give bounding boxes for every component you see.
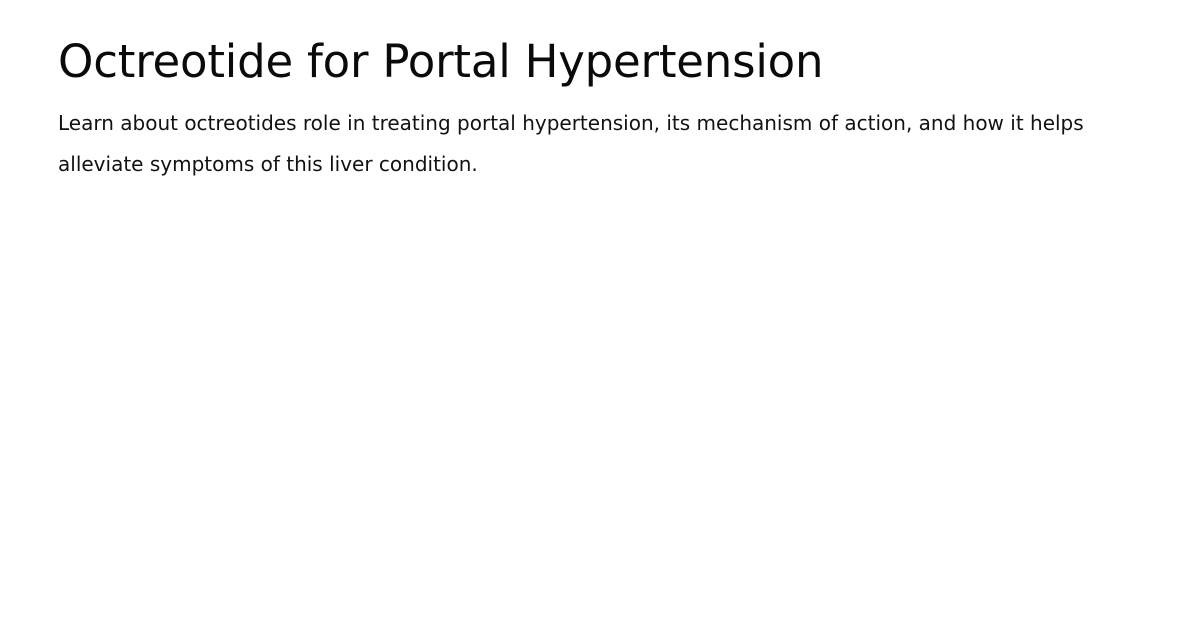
page-description: Learn about octreotides role in treating… xyxy=(58,103,1130,185)
empty-content-area xyxy=(58,185,1142,630)
page-title: Octreotide for Portal Hypertension xyxy=(58,34,823,90)
preview-card: Octreotide for Portal Hypertension Learn… xyxy=(0,0,1200,630)
